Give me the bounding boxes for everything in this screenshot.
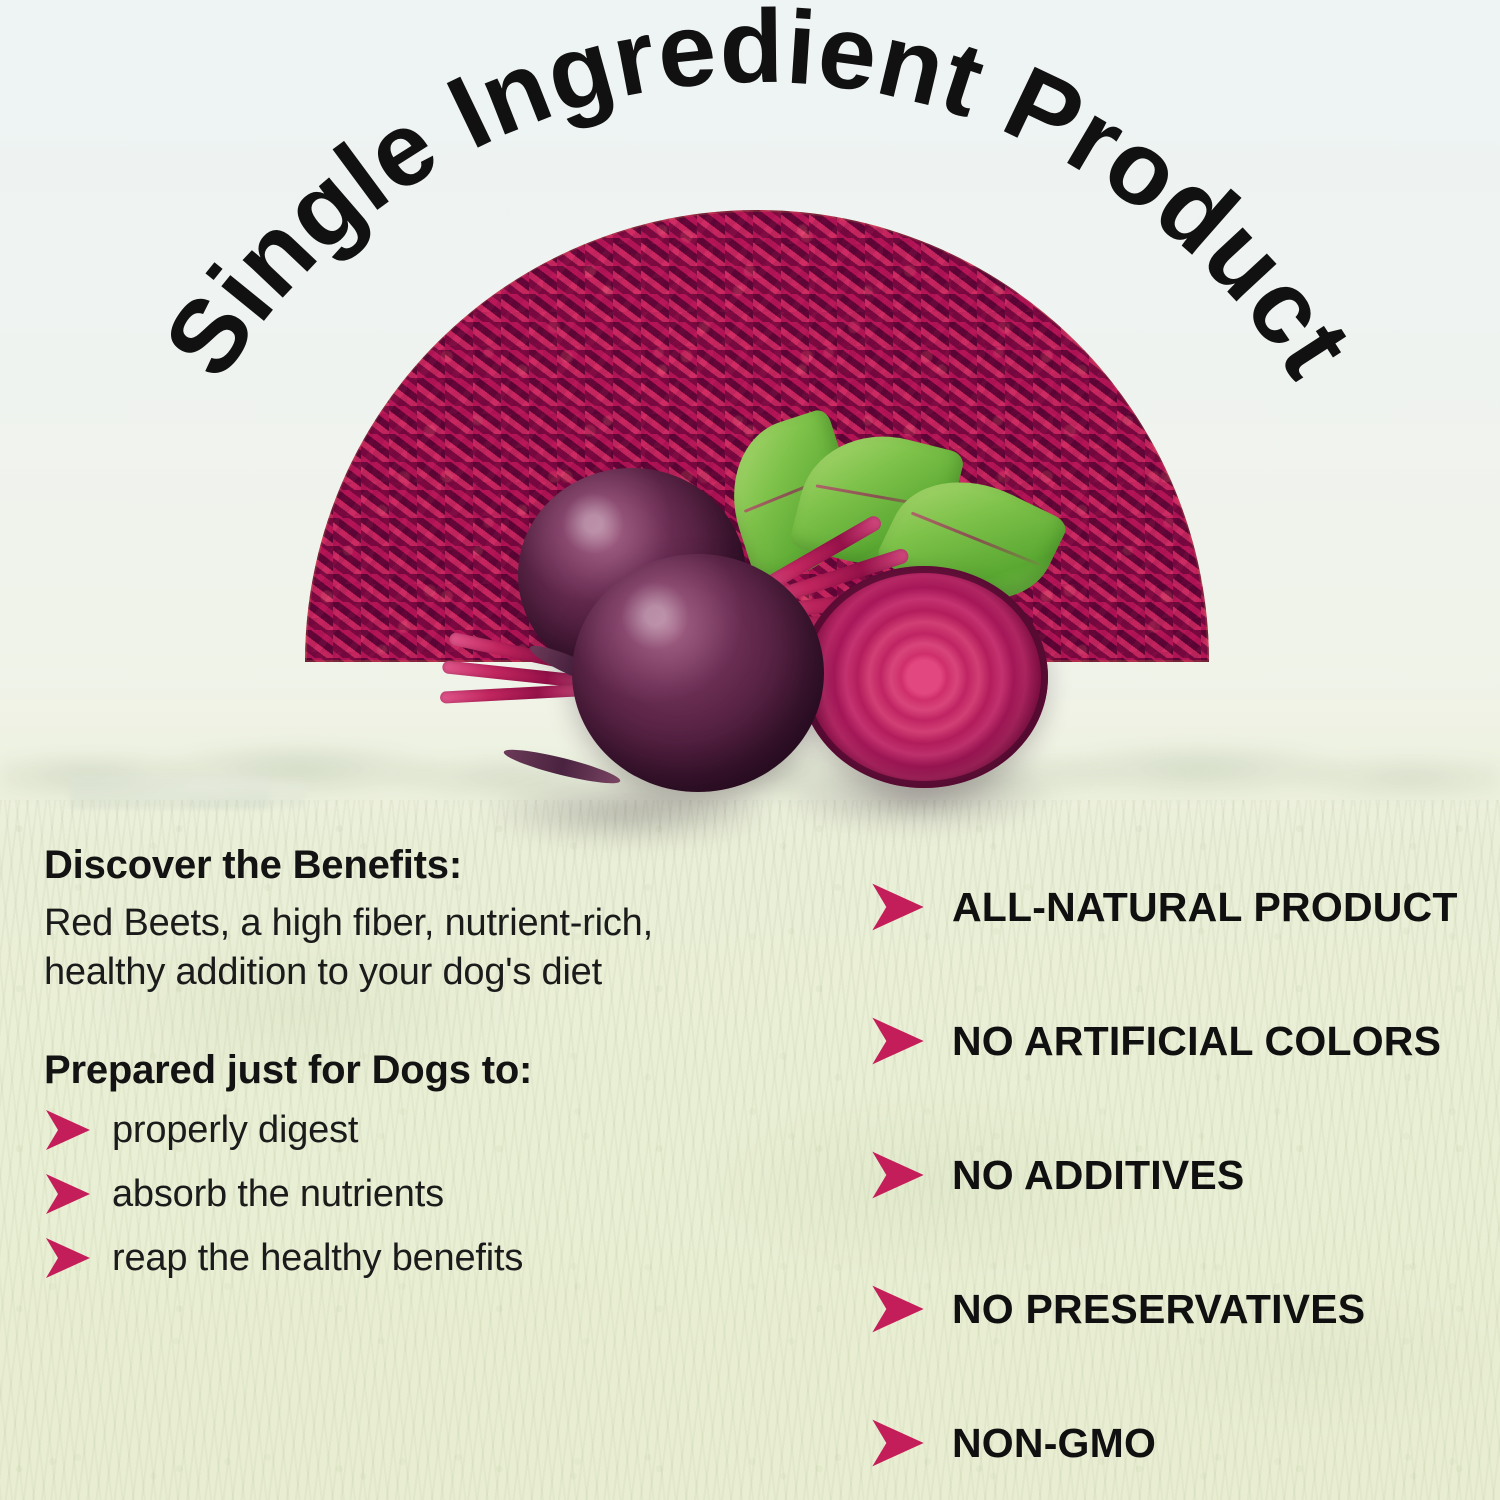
claim-label: NON-GMO [952,1420,1156,1467]
arrow-marker-icon [44,1107,92,1153]
list-item: NO ADDITIVES [870,1108,1490,1242]
beet-shadow-left [480,776,780,848]
fresh-beets-image [440,420,1060,850]
beet-stalk-left-3 [440,684,580,703]
prepared-item-label: properly digest [112,1109,358,1152]
claims-column: ALL-NATURAL PRODUCT NO ARTIFICIAL COLORS… [870,840,1490,1500]
benefits-title: Discover the Benefits: [44,843,764,887]
page-title: Single Ingredient Product [142,0,1374,397]
product-infographic: Single Ingredient Product [0,0,1500,1500]
claims-list: ALL-NATURAL PRODUCT NO ARTIFICIAL COLORS… [870,840,1490,1500]
claim-label: ALL-NATURAL PRODUCT [952,884,1458,931]
list-item: NO ARTIFICIAL COLORS [870,974,1490,1108]
list-item: absorb the nutrients [44,1171,764,1217]
arrow-marker-icon [44,1235,92,1281]
list-item: properly digest [44,1107,764,1153]
arrow-marker-icon [44,1171,92,1217]
list-item: NON-GMO [870,1376,1490,1500]
whole-beet-front [572,554,824,792]
arrow-marker-icon [870,1282,926,1336]
benefits-column: Discover the Benefits: Red Beets, a high… [44,843,764,1299]
list-item: NO PRESERVATIVES [870,1242,1490,1376]
claim-label: NO PRESERVATIVES [952,1286,1365,1333]
halved-beet-skin-rim [800,566,1048,788]
arrow-marker-icon [870,1014,926,1068]
halved-beet [800,566,1048,788]
benefits-body: Red Beets, a high fiber, nutrient-rich, … [44,899,764,996]
prepared-item-label: reap the healthy benefits [112,1237,523,1280]
prepared-item-label: absorb the nutrients [112,1173,444,1216]
claim-label: NO ARTIFICIAL COLORS [952,1018,1441,1065]
claim-label: NO ADDITIVES [952,1152,1244,1199]
prepared-title: Prepared just for Dogs to: [44,1048,764,1093]
list-item: reap the healthy benefits [44,1235,764,1281]
arrow-marker-icon [870,1148,926,1202]
list-item: ALL-NATURAL PRODUCT [870,840,1490,974]
arrow-marker-icon [870,1416,926,1470]
prepared-list: properly digest absorb the nutrients rea… [44,1107,764,1281]
arrow-marker-icon [870,880,926,934]
